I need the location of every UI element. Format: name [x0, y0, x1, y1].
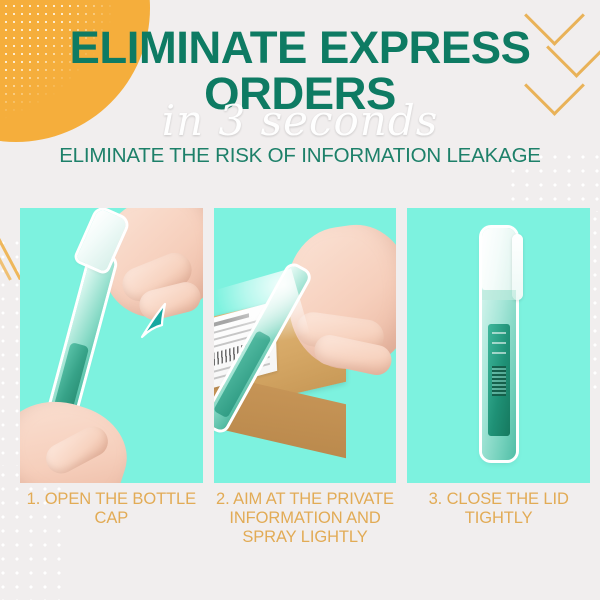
pen-cap [482, 228, 516, 290]
step-3-image [407, 208, 590, 483]
page-title: ELIMINATE EXPRESS ORDERS [0, 26, 600, 116]
title-line-1: ELIMINATE EXPRESS [0, 26, 600, 70]
step-1-caption: 1. OPEN THE BOTTLE CAP [20, 490, 203, 547]
page-subtitle: ELIMINATE THE RISK OF INFORMATION LEAKAG… [0, 144, 600, 168]
promo-poster: ELIMINATE EXPRESS ORDERS in 3 seconds EL… [0, 0, 600, 600]
curved-arrow-icon [138, 300, 168, 340]
step-2-image [214, 208, 397, 483]
pen-label [488, 324, 510, 436]
step-2-caption: 2. AIM AT THE PRIVATE INFORMATION AND SP… [214, 490, 397, 547]
step-captions: 1. OPEN THE BOTTLE CAP 2. AIM AT THE PRI… [20, 490, 590, 547]
step-3-caption: 3. CLOSE THE LID TIGHTLY [407, 490, 590, 547]
title-line-2: ORDERS [0, 72, 600, 116]
step-1-image [20, 208, 203, 483]
pen-collar [482, 290, 516, 300]
step-image-panels [20, 208, 590, 483]
spray-pen-capped [482, 228, 516, 460]
